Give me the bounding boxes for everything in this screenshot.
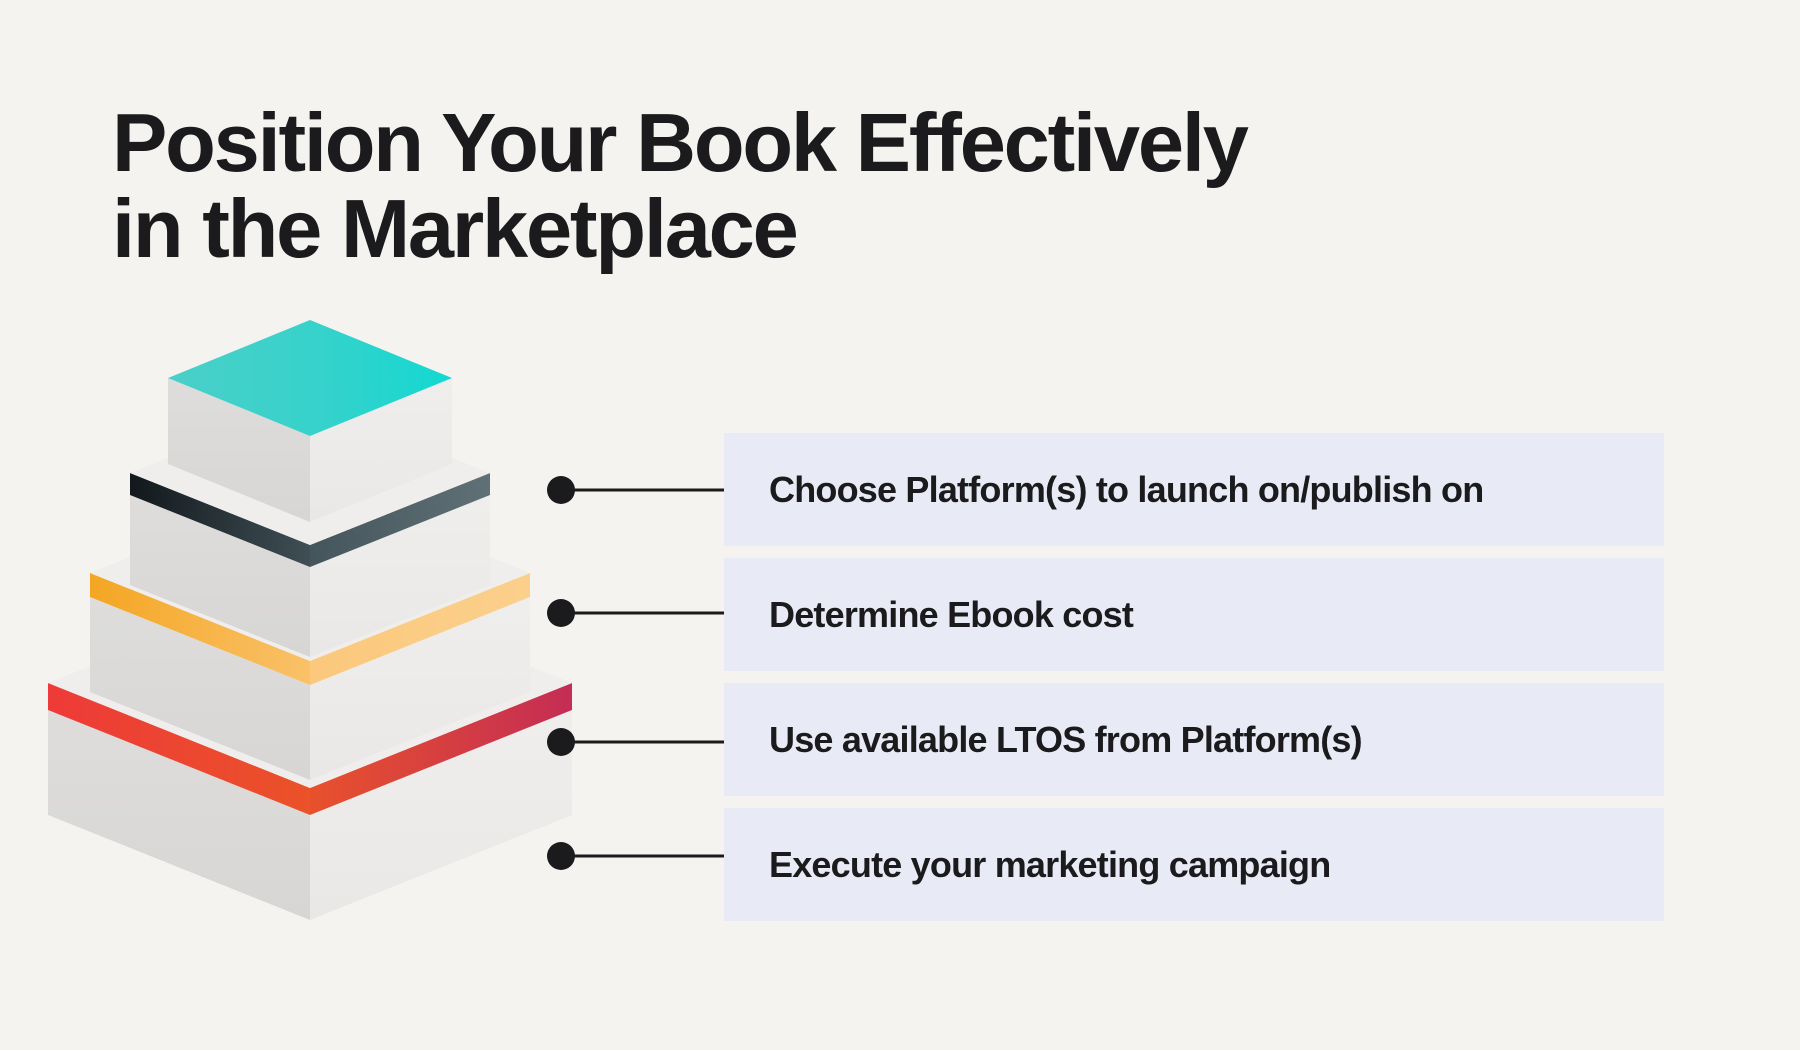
label-bar-1-text: Choose Platform(s) to launch on/publish … [769,469,1483,511]
layered-pyramid-diagram [20,310,640,930]
page-title-line-2: in the Marketplace [112,186,1562,272]
label-bar-4[interactable]: Execute your marketing campaign [724,808,1664,921]
label-bar-3[interactable]: Use available LTOS from Platform(s) [724,683,1664,796]
label-bar-2-text: Determine Ebook cost [769,594,1133,636]
page-title: Position Your Book Effectively in the Ma… [112,100,1562,273]
infographic-canvas: Position Your Book Effectively in the Ma… [0,0,1800,1050]
label-bar-list: Choose Platform(s) to launch on/publish … [724,433,1664,921]
label-bar-1[interactable]: Choose Platform(s) to launch on/publish … [724,433,1664,546]
label-bar-4-text: Execute your marketing campaign [769,844,1330,886]
label-bar-2[interactable]: Determine Ebook cost [724,558,1664,671]
page-title-line-1: Position Your Book Effectively [112,100,1562,186]
label-bar-3-text: Use available LTOS from Platform(s) [769,719,1362,761]
